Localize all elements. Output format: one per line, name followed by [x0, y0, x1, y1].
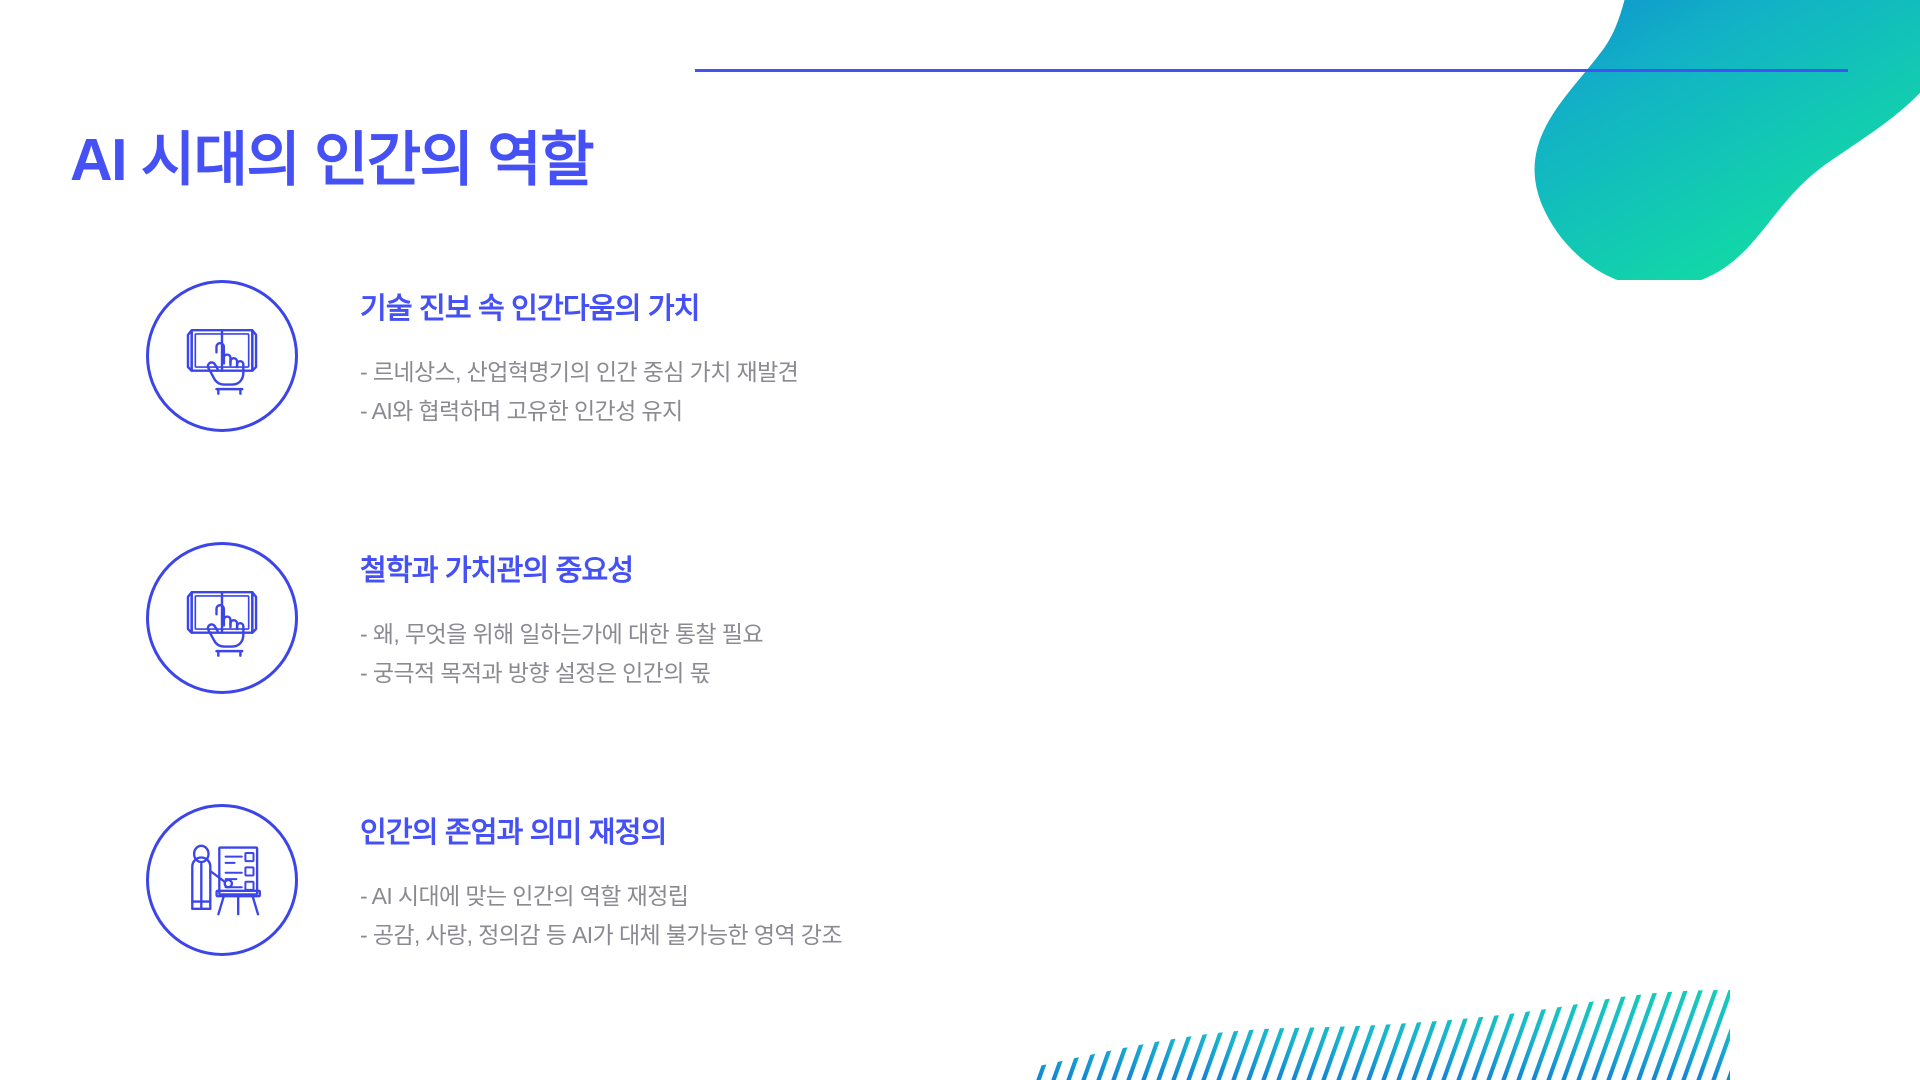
- bullet-item: - 왜, 무엇을 위해 일하는가에 대한 통찰 필요: [360, 615, 1100, 655]
- section-list: 기술 진보 속 인간다움의 가치 - 르네상스, 산업혁명기의 인간 중심 가치…: [0, 270, 1100, 1056]
- section-text: 철학과 가치관의 중요성 - 왜, 무엇을 위해 일하는가에 대한 통찰 필요 …: [360, 532, 1100, 694]
- bullet-item: - AI와 협력하며 고유한 인간성 유지: [360, 392, 1100, 432]
- bullet-item: - 공감, 사랑, 정의감 등 AI가 대체 불가능한 영역 강조: [360, 916, 1100, 956]
- book-hand-icon: [146, 280, 298, 432]
- book-hand-icon: [146, 542, 298, 694]
- presenter-board-icon: [146, 804, 298, 956]
- bullet-item: - 궁극적 목적과 방향 설정은 인간의 몫: [360, 654, 1100, 694]
- section-heading: 인간의 존엄과 의미 재정의: [360, 816, 1100, 851]
- section-item: 철학과 가치관의 중요성 - 왜, 무엇을 위해 일하는가에 대한 통찰 필요 …: [0, 532, 1100, 794]
- page-title: AI 시대의 인간의 역할: [70, 128, 593, 193]
- section-bullets: - AI 시대에 맞는 인간의 역할 재정립 - 공감, 사랑, 정의감 등 A…: [360, 877, 1100, 956]
- section-item: 기술 진보 속 인간다움의 가치 - 르네상스, 산업혁명기의 인간 중심 가치…: [0, 270, 1100, 532]
- section-heading: 기술 진보 속 인간다움의 가치: [360, 292, 1100, 327]
- section-bullets: - 르네상스, 산업혁명기의 인간 중심 가치 재발견 - AI와 협력하며 고…: [360, 353, 1100, 432]
- gradient-blob-decoration: [1340, 0, 1920, 280]
- horizontal-rule-decoration: [695, 69, 1848, 72]
- bullet-item: - AI 시대에 맞는 인간의 역할 재정립: [360, 877, 1100, 917]
- diagonal-stripes-decoration: [1030, 990, 1730, 1080]
- section-item: 인간의 존엄과 의미 재정의 - AI 시대에 맞는 인간의 역할 재정립 - …: [0, 794, 1100, 1056]
- section-text: 기술 진보 속 인간다움의 가치 - 르네상스, 산업혁명기의 인간 중심 가치…: [360, 270, 1100, 432]
- section-heading: 철학과 가치관의 중요성: [360, 554, 1100, 589]
- section-bullets: - 왜, 무엇을 위해 일하는가에 대한 통찰 필요 - 궁극적 목적과 방향 …: [360, 615, 1100, 694]
- slide-canvas: AI 시대의 인간의 역할: [0, 0, 1920, 1080]
- bullet-item: - 르네상스, 산업혁명기의 인간 중심 가치 재발견: [360, 353, 1100, 393]
- section-text: 인간의 존엄과 의미 재정의 - AI 시대에 맞는 인간의 역할 재정립 - …: [360, 794, 1100, 956]
